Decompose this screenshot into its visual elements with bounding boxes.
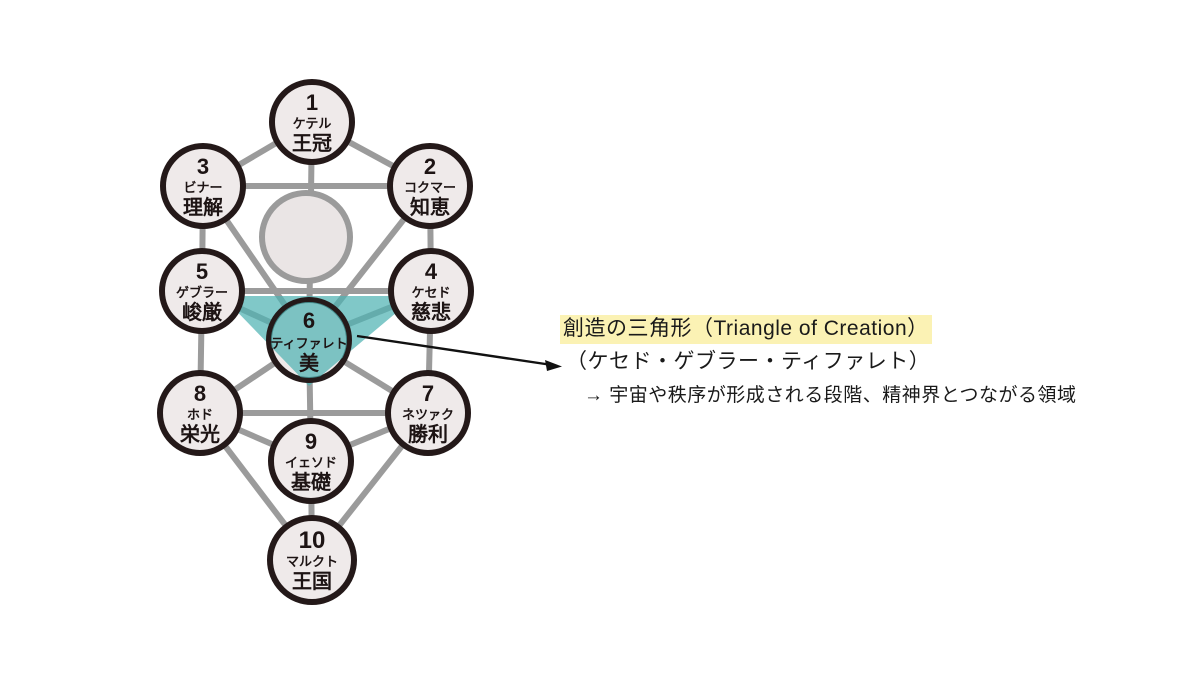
annotation-subtitle: （ケセド・ゲブラー・ティファレト） bbox=[566, 350, 930, 374]
arrow-shaft bbox=[357, 336, 552, 365]
sephira-netzach[interactable]: 7 ネツァク 勝利 bbox=[388, 373, 468, 453]
sephira-kana: ケテル bbox=[293, 116, 332, 131]
sephira-japanese-name: 理解 bbox=[183, 195, 223, 219]
sephira-number: 6 bbox=[303, 308, 315, 333]
sephira-number: 7 bbox=[422, 381, 434, 406]
sephira-kana: ネツァク bbox=[402, 407, 454, 422]
sephira-kana: コクマー bbox=[404, 180, 456, 195]
sephira-number: 9 bbox=[305, 429, 317, 454]
annotation-description: → 宇宙や秩序が形成される段階、精神界とつながる領域 bbox=[584, 385, 1077, 407]
sephira-chesed[interactable]: 4 ケセド 慈悲 bbox=[391, 251, 471, 331]
sephira-binah[interactable]: 3 ビナー 理解 bbox=[163, 146, 243, 226]
sephira-japanese-name: 峻厳 bbox=[182, 300, 223, 324]
sephira-geburah[interactable]: 5 ゲブラー 峻厳 bbox=[162, 251, 242, 331]
sephira-number: 1 bbox=[306, 90, 318, 115]
annotation-title: 創造の三角形（Triangle of Creation） bbox=[560, 315, 932, 344]
slide-canvas: 1 ケテル 王冠 2 コクマー 知恵 3 ビナー 理解 4 ケセド 慈悲 5 bbox=[0, 0, 1200, 675]
sephira-japanese-name: 勝利 bbox=[408, 423, 448, 446]
sephira-japanese-name: 慈悲 bbox=[411, 300, 451, 324]
sephira-japanese-name: 美 bbox=[299, 351, 320, 375]
arrow-head-icon bbox=[545, 360, 562, 371]
sephira-number: 4 bbox=[425, 259, 438, 284]
sephira-keter[interactable]: 1 ケテル 王冠 bbox=[272, 82, 352, 162]
sephira-japanese-name: 基礎 bbox=[291, 471, 332, 494]
sephira-japanese-name: 栄光 bbox=[179, 422, 220, 446]
sephira-japanese-name: 知恵 bbox=[410, 195, 450, 219]
sephira-japanese-name: 王国 bbox=[292, 571, 332, 593]
sephira-kana: ゲブラー bbox=[176, 285, 228, 300]
sephira-kana: ホド bbox=[187, 407, 213, 422]
sephira-number: 2 bbox=[424, 154, 436, 179]
sephira-kana: マルクト bbox=[286, 554, 338, 569]
sephira-kana: イェソド bbox=[285, 455, 337, 470]
daath-hidden-sephira bbox=[262, 193, 350, 281]
sephira-chokmah[interactable]: 2 コクマー 知恵 bbox=[390, 146, 470, 226]
sephira-yesod[interactable]: 9 イェソド 基礎 bbox=[271, 421, 351, 501]
sephira-kana: ビナー bbox=[183, 180, 222, 195]
sephira-kana: ティファレト bbox=[270, 336, 347, 351]
sephira-kana: ケセド bbox=[411, 285, 450, 300]
sephira-number: 8 bbox=[194, 381, 206, 406]
sephira-japanese-name: 王冠 bbox=[292, 133, 332, 155]
sephira-malkuth[interactable]: 10 マルクト 王国 bbox=[270, 518, 354, 602]
sephira-number: 5 bbox=[196, 259, 208, 284]
sephira-number: 10 bbox=[299, 527, 326, 554]
annotation-arrow bbox=[357, 336, 562, 371]
sephira-hod[interactable]: 8 ホド 栄光 bbox=[160, 373, 240, 453]
sephira-number: 3 bbox=[197, 154, 209, 179]
